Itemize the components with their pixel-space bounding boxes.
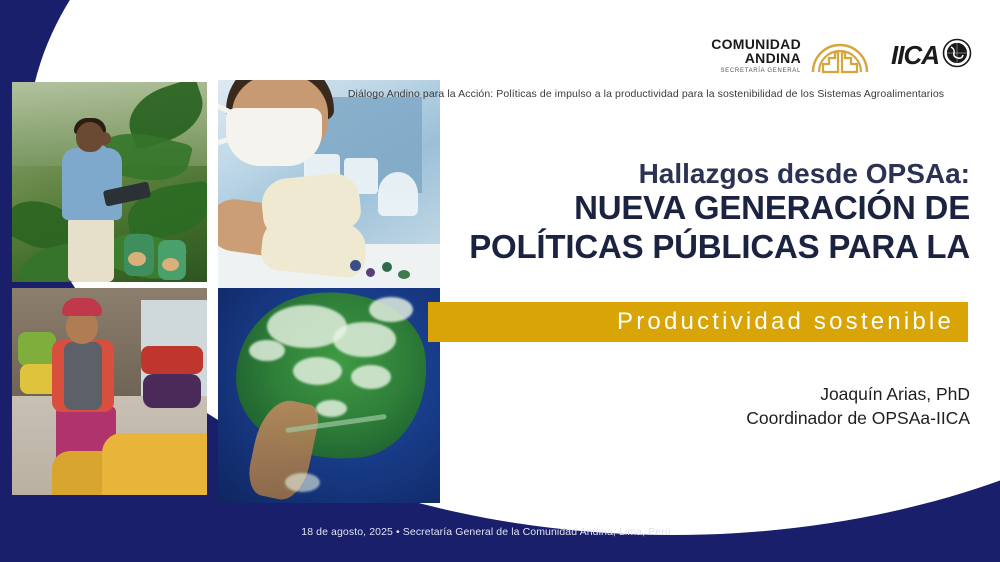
highlight-banner-text: Productividad sostenible — [617, 308, 968, 336]
presentation-slide: COMUNIDAD ANDINA SECRETARÍA GENERAL IICA — [0, 0, 1000, 562]
comunidad-andina-line3: SECRETARÍA GENERAL — [711, 68, 801, 74]
title-kicker: Hallazgos desde OPSAa: — [350, 158, 970, 189]
title-line-1: NUEVA GENERACIÓN DE — [350, 189, 970, 227]
globe-emblem-icon — [942, 38, 972, 73]
logo-bar: COMUNIDAD ANDINA SECRETARÍA GENERAL IICA — [711, 32, 972, 79]
author-name: Joaquín Arias, PhD — [410, 383, 970, 407]
photo-market-vendor — [12, 288, 207, 495]
photo-satellite-south-america — [218, 288, 440, 503]
photo-farmer-field — [12, 82, 207, 282]
iica-logo: IICA — [891, 38, 972, 73]
iica-wordmark: IICA — [891, 40, 939, 71]
author-role: Coordinador de OPSAa-IICA — [410, 407, 970, 431]
event-subtitle: Diálogo Andino para la Acción: Políticas… — [336, 88, 956, 100]
title-line-2: POLÍTICAS PÚBLICAS PARA LA — [350, 228, 970, 266]
comunidad-andina-line2: ANDINA — [711, 51, 801, 65]
comunidad-andina-logo: COMUNIDAD ANDINA SECRETARÍA GENERAL — [711, 32, 869, 79]
highlight-banner: Productividad sostenible — [428, 302, 968, 342]
andean-arch-icon — [811, 32, 869, 79]
author-block: Joaquín Arias, PhD Coordinador de OPSAa-… — [410, 383, 970, 430]
footer-text: 18 de agosto, 2025 • Secretaría General … — [0, 526, 1000, 538]
title-block: Hallazgos desde OPSAa: NUEVA GENERACIÓN … — [350, 158, 970, 266]
comunidad-andina-line1: COMUNIDAD — [711, 37, 801, 51]
